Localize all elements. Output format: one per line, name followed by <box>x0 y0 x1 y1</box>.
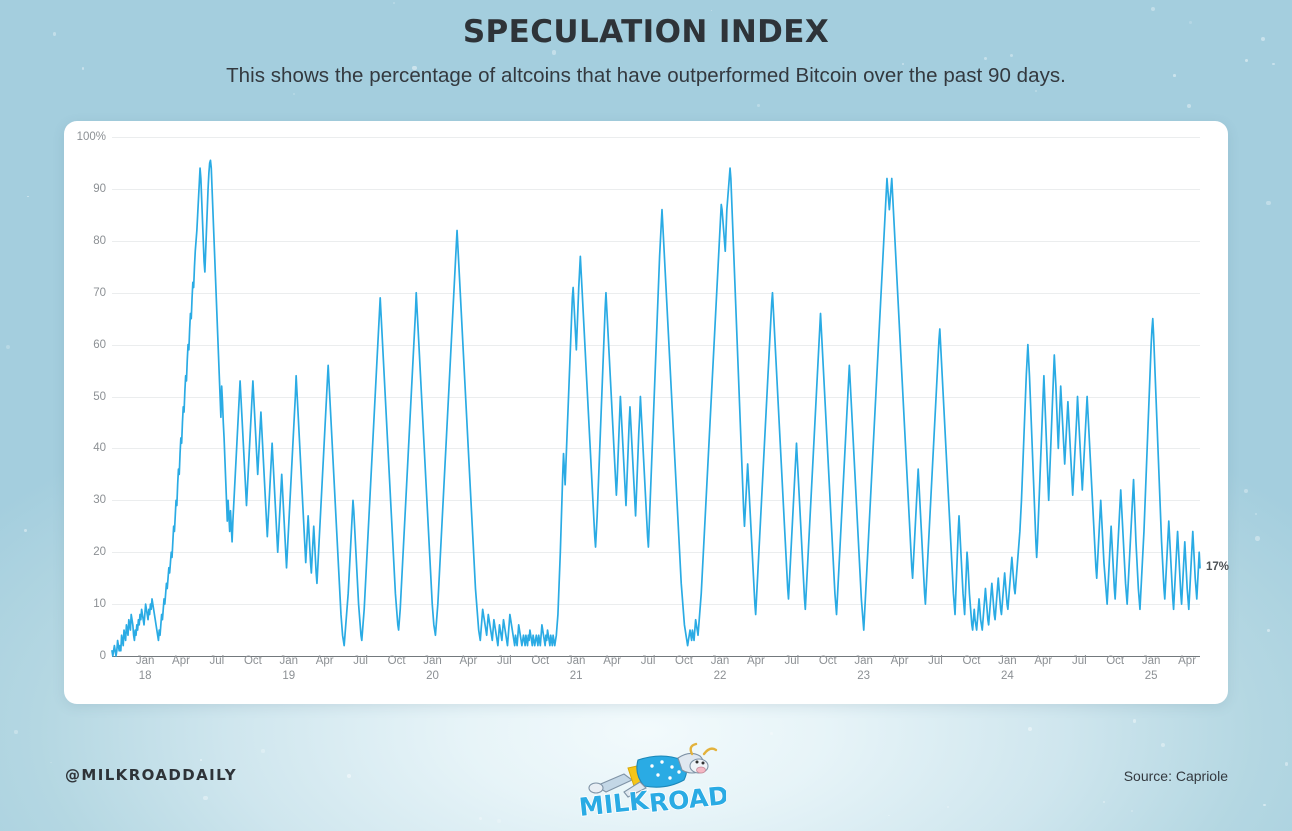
series-line-speculation-index <box>112 160 1200 656</box>
y-tick-label: 50 <box>93 391 106 403</box>
x-tick-label: Oct <box>1106 654 1124 669</box>
x-tick-label: Jul <box>210 654 225 669</box>
x-tick-year: 22 <box>711 669 730 684</box>
x-tick-label: Jan25 <box>1142 654 1161 684</box>
y-tick-label: 0 <box>100 650 106 662</box>
x-tick-label: Jan18 <box>136 654 155 684</box>
y-tick-label: 10 <box>93 598 106 610</box>
x-tick-month: Apr <box>603 655 621 667</box>
x-tick-label: Jan22 <box>711 654 730 684</box>
x-tick-month: Jul <box>497 655 512 667</box>
page-subtitle: This shows the percentage of altcoins th… <box>0 64 1292 88</box>
y-tick-label: 20 <box>93 546 106 558</box>
x-tick-month: Apr <box>747 655 765 667</box>
x-tick-label: Jan21 <box>567 654 586 684</box>
y-tick-label: 100% <box>77 131 106 143</box>
x-tick-month: Oct <box>963 655 981 667</box>
x-tick-label: Oct <box>963 654 981 669</box>
x-tick-year: 19 <box>280 669 299 684</box>
x-tick-label: Oct <box>388 654 406 669</box>
x-tick-label: Oct <box>244 654 262 669</box>
x-tick-month: Jan <box>280 655 299 667</box>
x-tick-label: Jan20 <box>423 654 442 684</box>
x-tick-label: Jan24 <box>998 654 1017 684</box>
x-tick-label: Apr <box>891 654 909 669</box>
x-tick-year: 24 <box>998 669 1017 684</box>
x-tick-label: Apr <box>747 654 765 669</box>
x-tick-month: Apr <box>891 655 909 667</box>
x-axis: Jan18AprJulOctJan19AprJulOctJan20AprJulO… <box>112 646 1200 704</box>
footer: @MILKROADDAILY <box>0 704 1292 831</box>
x-tick-year: 25 <box>1142 669 1161 684</box>
x-tick-month: Jul <box>1072 655 1087 667</box>
x-tick-month: Jan <box>567 655 586 667</box>
x-tick-month: Apr <box>1178 655 1196 667</box>
header: SPECULATION INDEX This shows the percent… <box>0 14 1292 88</box>
x-tick-label: Jul <box>928 654 943 669</box>
x-tick-month: Jan <box>998 655 1017 667</box>
y-tick-label: 40 <box>93 442 106 454</box>
x-tick-label: Jan23 <box>854 654 873 684</box>
x-tick-month: Jul <box>784 655 799 667</box>
x-tick-month: Apr <box>459 655 477 667</box>
x-tick-label: Apr <box>172 654 190 669</box>
milk-road-cow-logo: MILK ROAD <box>566 732 726 824</box>
x-tick-month: Oct <box>1106 655 1124 667</box>
x-tick-month: Jan <box>423 655 442 667</box>
y-tick-label: 30 <box>93 494 106 506</box>
y-axis: 0102030405060708090100% <box>64 121 106 704</box>
logo-text-milk: MILK <box>578 786 652 822</box>
y-tick-label: 90 <box>93 183 106 195</box>
x-tick-label: Jul <box>784 654 799 669</box>
x-tick-month: Apr <box>172 655 190 667</box>
speculation-index-line <box>112 121 1200 704</box>
x-tick-year: 23 <box>854 669 873 684</box>
x-tick-month: Oct <box>675 655 693 667</box>
x-tick-label: Jan19 <box>280 654 299 684</box>
x-tick-month: Jul <box>210 655 225 667</box>
y-tick-label: 80 <box>93 235 106 247</box>
x-tick-month: Jul <box>641 655 656 667</box>
x-tick-month: Oct <box>244 655 262 667</box>
x-tick-month: Jan <box>136 655 155 667</box>
x-tick-year: 21 <box>567 669 586 684</box>
x-tick-label: Oct <box>819 654 837 669</box>
page-title: SPECULATION INDEX <box>0 14 1292 51</box>
x-tick-label: Apr <box>1034 654 1052 669</box>
x-tick-month: Jul <box>928 655 943 667</box>
x-tick-label: Apr <box>603 654 621 669</box>
x-tick-month: Jul <box>353 655 368 667</box>
source-attribution: Source: Capriole <box>1124 768 1228 784</box>
social-handle: @MILKROADDAILY <box>65 766 237 784</box>
x-tick-year: 18 <box>136 669 155 684</box>
x-tick-label: Jul <box>1072 654 1087 669</box>
x-tick-label: Apr <box>316 654 334 669</box>
chart-card: 0102030405060708090100% 17% Jan18AprJulO… <box>64 121 1228 704</box>
x-tick-label: Jul <box>353 654 368 669</box>
x-tick-month: Oct <box>531 655 549 667</box>
x-tick-month: Jan <box>854 655 873 667</box>
x-tick-year: 20 <box>423 669 442 684</box>
last-value-label: 17% <box>1206 561 1229 573</box>
x-tick-label: Jul <box>497 654 512 669</box>
y-tick-label: 70 <box>93 287 106 299</box>
x-tick-month: Jan <box>711 655 730 667</box>
x-tick-month: Apr <box>1034 655 1052 667</box>
x-tick-month: Oct <box>388 655 406 667</box>
x-tick-month: Jan <box>1142 655 1161 667</box>
x-tick-label: Oct <box>531 654 549 669</box>
x-tick-label: Jul <box>641 654 656 669</box>
x-tick-label: Apr <box>1178 654 1196 669</box>
x-tick-label: Apr <box>459 654 477 669</box>
x-tick-month: Apr <box>316 655 334 667</box>
x-tick-month: Oct <box>819 655 837 667</box>
y-tick-label: 60 <box>93 339 106 351</box>
plot-area: 0102030405060708090100% 17% Jan18AprJulO… <box>64 121 1228 704</box>
x-tick-label: Oct <box>675 654 693 669</box>
